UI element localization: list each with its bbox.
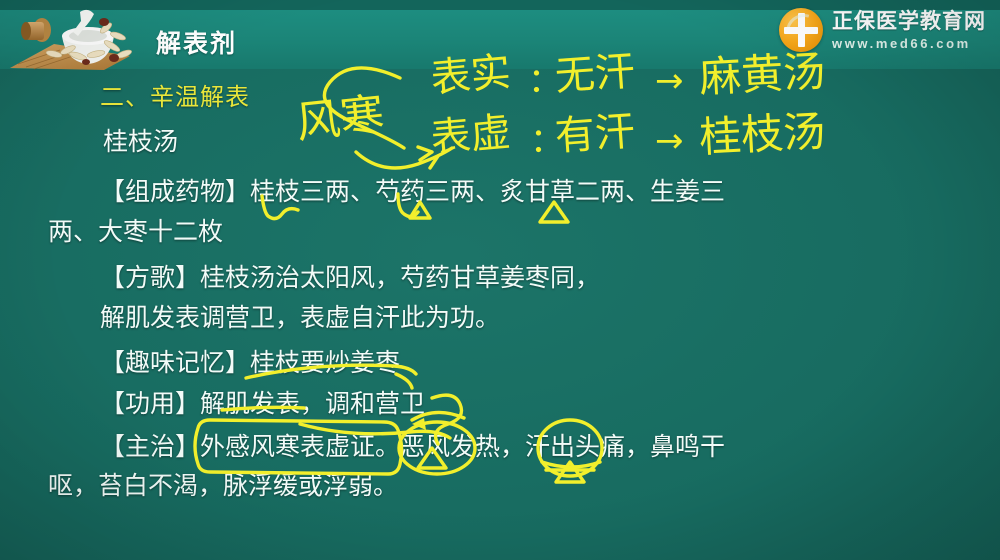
slide-line: 二、辛温解表 <box>100 85 250 109</box>
slide-line: 【主治】外感风寒表虚证。恶风发热，汗出头痛，鼻鸣干 <box>100 434 725 459</box>
brand-website: www.med66.com <box>832 37 986 50</box>
slide-line: 【组成药物】桂枝三两、芍药三两、炙甘草二两、生姜三 <box>100 179 725 204</box>
slide-line: 呕，苔白不渴，脉浮缓或浮弱。 <box>48 473 398 498</box>
page-title: 解表剂 <box>156 24 237 60</box>
lecture-slide-screen: 解表剂 正保医学教育网 www.med66.com 二、辛温解表桂枝汤【组成药物… <box>0 0 1000 560</box>
brand-name: 正保医学教育网 <box>832 11 986 32</box>
cross-circle-logo-icon <box>779 8 823 52</box>
slide-line: 【方歌】桂枝汤治太阳风，芍药甘草姜枣同， <box>100 265 600 290</box>
brand-logo[interactable]: 正保医学教育网 www.med66.com <box>779 8 986 52</box>
slide-text-area: 二、辛温解表桂枝汤【组成药物】桂枝三两、芍药三两、炙甘草二两、生姜三两、大枣十二… <box>0 69 1000 560</box>
slide-line: 【功用】解肌发表，调和营卫 <box>100 391 425 416</box>
slide-line: 桂枝汤 <box>103 129 178 154</box>
slide-line: 解肌发表调营卫，表虚自汗此为功。 <box>100 305 500 330</box>
slide-line: 【趣味记忆】桂枝要炒姜枣 <box>100 350 400 375</box>
herbal-mortar-photo-icon <box>8 4 153 70</box>
slide-line: 两、大枣十二枚 <box>48 219 223 244</box>
